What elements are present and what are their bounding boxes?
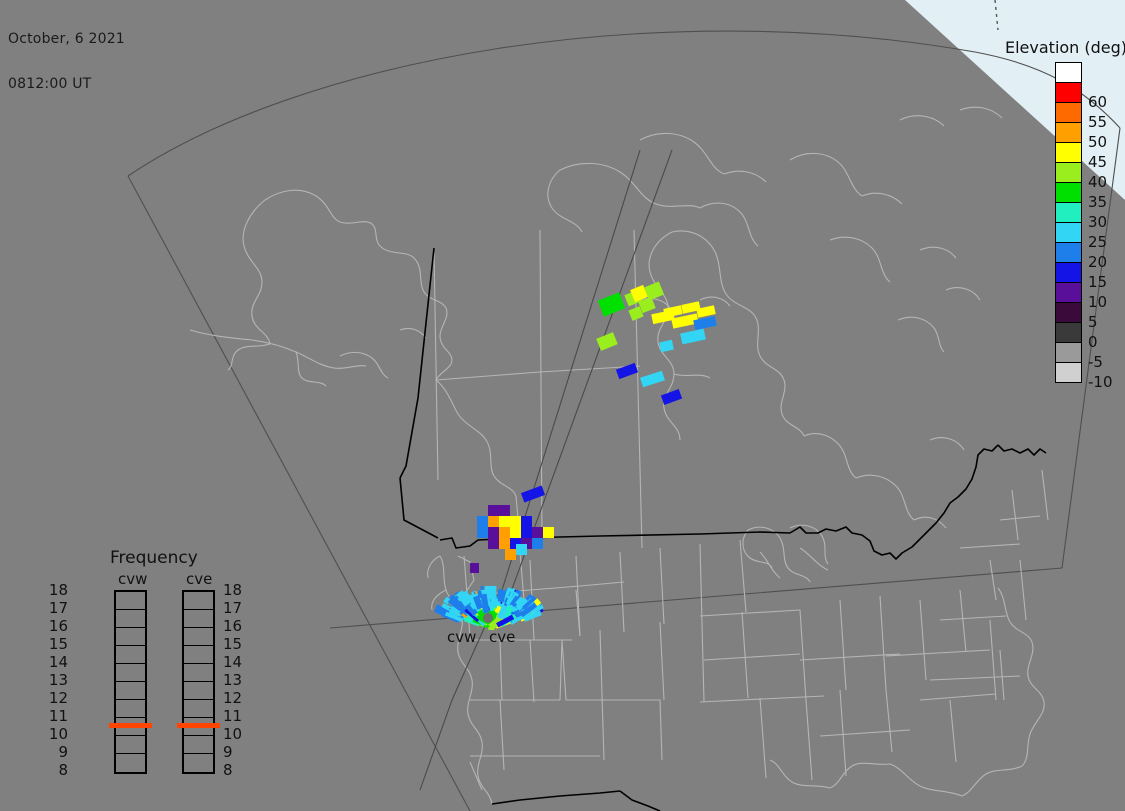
radar-echo-cell (499, 527, 510, 538)
radar-echo-cell (640, 371, 665, 388)
timestamp-time: 0812:00 UT (8, 77, 125, 92)
colorbar-tick-25: 25 (1088, 233, 1107, 251)
radar-echo-cell (488, 516, 499, 527)
frequency-legend-panel: Frequency cvw 18171615141312111098 cve 1… (93, 548, 243, 783)
frequency-cell (116, 754, 145, 772)
radar-echo-cell (470, 563, 479, 573)
frequency-cell (184, 736, 213, 754)
frequency-cell (184, 754, 213, 772)
colorbar-swatch-0: 0 (1056, 323, 1081, 343)
radar-echo-cell (510, 516, 521, 527)
frequency-cell (116, 664, 145, 682)
frequency-tick-cvw-11: 11 (49, 709, 68, 724)
timestamp: October, 6 2021 0812:00 UT (8, 2, 125, 122)
colorbar-tick--5: -5 (1088, 353, 1103, 371)
radar-site-dot (483, 613, 493, 623)
radar-echo-cell (521, 516, 532, 527)
colorbar-swatch-5: 5 (1056, 303, 1081, 323)
colorbar-swatch-10: 10 (1056, 283, 1081, 303)
frequency-tick-cve-14: 14 (223, 655, 242, 670)
colorbar-tick-50: 50 (1088, 133, 1107, 151)
radar-echo-cell (499, 538, 510, 549)
frequency-tick-cvw-10: 10 (49, 727, 68, 742)
colorbar-swatch-top (1056, 63, 1081, 83)
radar-echo-cell (616, 363, 638, 379)
frequency-cell (184, 628, 213, 646)
frequency-tick-cve-9: 9 (223, 745, 233, 760)
frequency-tick-cvw-16: 16 (49, 619, 68, 634)
radar-echo-cell (510, 527, 521, 538)
frequency-cell (184, 592, 213, 610)
radar-echo-cell (598, 292, 626, 316)
radar-echo-cell (680, 329, 706, 345)
colorbar-tick-45: 45 (1088, 153, 1107, 171)
radar-site-label-cve: cve (489, 628, 515, 646)
radar-echo-cell (488, 505, 499, 516)
frequency-tick-cvw-17: 17 (49, 601, 68, 616)
radar-echo-cell (488, 527, 499, 538)
radar-echo-cell (532, 527, 543, 538)
frequency-tick-cvw-15: 15 (49, 637, 68, 652)
radar-site-label-cvw: cvw (447, 628, 476, 646)
colorbar-tick-30: 30 (1088, 213, 1107, 231)
radar-echo-cell (488, 538, 499, 549)
frequency-cell (116, 628, 145, 646)
frequency-tick-cve-16: 16 (223, 619, 242, 634)
frequency-cell (116, 700, 145, 718)
frequency-tick-cve-18: 18 (223, 583, 242, 598)
frequency-scale-box-cvw (114, 590, 147, 774)
frequency-column-label-cve: cve (186, 570, 212, 588)
frequency-active-marker-cvw (109, 723, 152, 728)
frequency-tick-cve-12: 12 (223, 691, 242, 706)
frequency-cell (184, 682, 213, 700)
colorbar-tick-40: 40 (1088, 173, 1107, 191)
radar-map-figure: October, 6 2021 0812:00 UT cvw cve Eleva… (0, 0, 1125, 811)
colorbar-tick-20: 20 (1088, 253, 1107, 271)
radar-echo-cell (661, 389, 682, 405)
frequency-cell (116, 610, 145, 628)
colorbar-swatch-25: 25 (1056, 223, 1081, 243)
colorbar-tick--10: -10 (1088, 373, 1113, 391)
colorbar-tick-60: 60 (1088, 93, 1107, 111)
radar-echo-cell (596, 332, 618, 351)
radar-echo-cell (505, 549, 516, 560)
frequency-cell (116, 736, 145, 754)
frequency-tick-cve-13: 13 (223, 673, 242, 688)
frequency-tick-cve-15: 15 (223, 637, 242, 652)
frequency-title: Frequency (110, 548, 198, 568)
colorbar-swatch-15: 15 (1056, 263, 1081, 283)
colorbar-swatch-40: 40 (1056, 163, 1081, 183)
radar-echo-cell (521, 486, 545, 503)
radar-echo-cell (659, 340, 674, 352)
frequency-active-marker-cve (177, 723, 220, 728)
radar-echo-cell (521, 527, 532, 538)
colorbar-swatch--10: -10 (1056, 363, 1081, 382)
colorbar-title: Elevation (deg) (1005, 38, 1125, 57)
colorbar-swatches: 605550454035302520151050-5-10 (1055, 62, 1082, 383)
frequency-tick-cvw-9: 9 (58, 745, 68, 760)
frequency-cell (116, 682, 145, 700)
frequency-cell (184, 664, 213, 682)
frequency-tick-cve-10: 10 (223, 727, 242, 742)
frequency-tick-cvw-8: 8 (58, 763, 68, 778)
radar-echo-cell (516, 544, 527, 555)
radar-echo-cell (532, 538, 543, 549)
colorbar-swatch--5: -5 (1056, 343, 1081, 363)
radar-echo-cell (499, 505, 510, 516)
colorbar-tick-10: 10 (1088, 293, 1107, 311)
radar-echo-cell (499, 516, 510, 527)
colorbar-swatch-45: 45 (1056, 143, 1081, 163)
timestamp-date: October, 6 2021 (8, 32, 125, 47)
colorbar-tick-5: 5 (1088, 313, 1098, 331)
frequency-tick-cvw-13: 13 (49, 673, 68, 688)
frequency-cell (184, 700, 213, 718)
colorbar-tick-55: 55 (1088, 113, 1107, 131)
frequency-scale-box-cve (182, 590, 215, 774)
colorbar-swatch-60: 60 (1056, 83, 1081, 103)
frequency-tick-cvw-12: 12 (49, 691, 68, 706)
radar-echo-cell (477, 516, 488, 527)
colorbar-swatch-20: 20 (1056, 243, 1081, 263)
radar-echo-cell (543, 527, 554, 538)
frequency-cell (116, 646, 145, 664)
frequency-tick-cvw-14: 14 (49, 655, 68, 670)
colorbar-tick-15: 15 (1088, 273, 1107, 291)
colorbar-swatch-50: 50 (1056, 123, 1081, 143)
frequency-cell (184, 646, 213, 664)
frequency-column-label-cvw: cvw (118, 570, 147, 588)
colorbar-swatch-35: 35 (1056, 183, 1081, 203)
colorbar-swatch-30: 30 (1056, 203, 1081, 223)
frequency-tick-cvw-18: 18 (49, 583, 68, 598)
frequency-tick-cve-8: 8 (223, 763, 233, 778)
colorbar-tick-35: 35 (1088, 193, 1107, 211)
frequency-cell (184, 610, 213, 628)
colorbar-tick-0: 0 (1088, 333, 1098, 351)
frequency-cell (116, 592, 145, 610)
radar-echo-cell (477, 527, 488, 538)
colorbar-swatch-55: 55 (1056, 103, 1081, 123)
frequency-tick-cve-17: 17 (223, 601, 242, 616)
frequency-tick-cve-11: 11 (223, 709, 242, 724)
